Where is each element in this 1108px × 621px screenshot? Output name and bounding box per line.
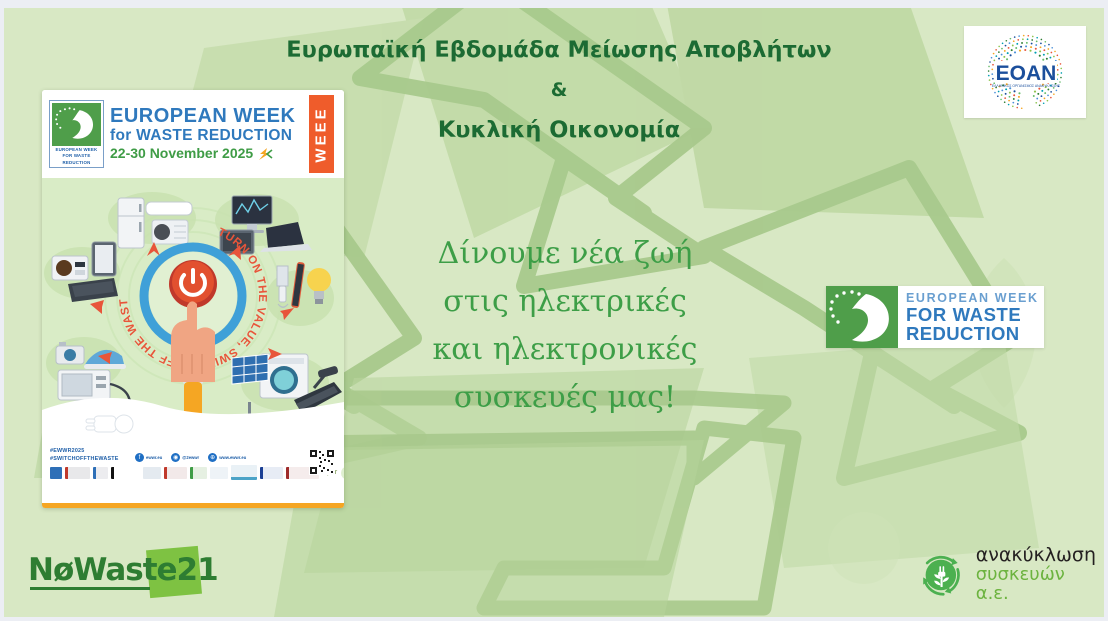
- slogan-line-3: και ηλεκτρονικές: [400, 326, 730, 374]
- ewwr-hand-stars-icon: [826, 286, 898, 348]
- social-facebook[interactable]: f ewwr.eu: [135, 453, 162, 462]
- sponsor-logo: [341, 467, 344, 479]
- slogan-block: Δίνουμε νέα ζωή στις ηλεκτρικές και ηλεκ…: [400, 230, 730, 422]
- poster-header: EUROPEAN WEEK FOR WASTE REDUCTION EUROPE…: [42, 90, 344, 178]
- poster-bottom-stripe: [42, 503, 344, 508]
- globe-icon: ⊕: [208, 453, 217, 462]
- ewwr-hand-stars-icon: EUROPEAN WEEK FOR WASTE REDUCTION: [49, 100, 104, 168]
- sponsor-logo: [93, 467, 108, 479]
- sponsor-logo: [65, 467, 90, 479]
- sponsor-logo: [50, 467, 62, 479]
- sponsor-logo: [260, 467, 283, 479]
- radio-icon: [52, 256, 88, 280]
- sponsor-logo: [231, 465, 257, 480]
- social-instagram[interactable]: ◉ @2ewwr: [171, 453, 199, 462]
- ewwr-right-line-2: FOR WASTE: [906, 305, 1044, 324]
- sponsor-logo: [190, 467, 207, 479]
- anakyklosi-wordmark: ανακύκλωση συσκευών α.ε.: [976, 546, 1096, 604]
- power-button-icon: [169, 260, 217, 308]
- social-website[interactable]: ⊕ www.ewwr.eu: [208, 453, 246, 462]
- sponsor-logo: [111, 467, 140, 479]
- instagram-icon: ◉: [171, 453, 180, 462]
- air-conditioner-icon: [146, 202, 192, 244]
- eoan-dot-ring-icon: EOAN ΕΛΛΗΝΙΚΟΣ ΟΡΓΑΝΙΣΜΟΣ ΑΝΑΚΥΚΛΩΣΗΣ: [973, 33, 1077, 111]
- slogan-line-4: συσκευές μας!: [400, 374, 730, 422]
- nowaste-underline: [30, 587, 150, 590]
- sponsor-logos: Upor: [50, 465, 336, 480]
- social-handle-facebook: ewwr.eu: [146, 455, 162, 460]
- ewwr-logo-right: EUROPEAN WEEK FOR WASTE REDUCTION: [826, 286, 1044, 348]
- poster-dates-text: 22-30 November 2025: [110, 145, 253, 162]
- title-line-1: Ευρωπαϊκή Εβδομάδα Μείωσης Αποβλήτων: [274, 28, 844, 72]
- nowaste21-logo: NøWaste21: [22, 546, 212, 598]
- ewwr-right-line-3: REDUCTION: [906, 324, 1044, 343]
- ewwr-right-words: EUROPEAN WEEK FOR WASTE REDUCTION: [898, 286, 1044, 348]
- anakyklosi-line-2: συσκευών α.ε.: [976, 566, 1096, 604]
- poster-header-words: EUROPEAN WEEK for WASTE REDUCTION 22-30 …: [104, 106, 344, 162]
- anakyklosi-line-1: ανακύκλωση: [976, 546, 1096, 566]
- eoan-subtitle: ΕΛΛΗΝΙΚΟΣ ΟΡΓΑΝΙΣΜΟΣ ΑΝΑΚΥΚΛΩΣΗΣ: [992, 84, 1060, 88]
- page-title: Ευρωπαϊκή Εβδομάδα Μείωσης Αποβλήτων & Κ…: [274, 28, 844, 152]
- social-handle-website: www.ewwr.eu: [219, 455, 246, 460]
- recycling-plug-plant-icon: [916, 544, 966, 606]
- eoan-logo: EOAN ΕΛΛΗΝΙΚΟΣ ΟΡΓΑΝΙΣΜΟΣ ΑΝΑΚΥΚΛΩΣΗΣ: [964, 26, 1086, 118]
- weee-side-tab: WEEE: [309, 95, 334, 173]
- ewwr-right-line-1: EUROPEAN WEEK: [906, 292, 1044, 305]
- weee-side-tab-text: WEEE: [313, 106, 330, 162]
- social-handle-instagram: @2ewwr: [182, 455, 199, 460]
- nowaste-wordmark: NøWaste21: [28, 552, 218, 588]
- slogan-line-1: Δίνουμε νέα ζωή: [400, 230, 730, 278]
- title-line-2: Κυκλική Οικονομία: [274, 108, 844, 152]
- ewwr-poster: EUROPEAN WEEK FOR WASTE REDUCTION EUROPE…: [42, 90, 344, 508]
- eoan-wordmark: EOAN: [996, 62, 1057, 85]
- sponsor-logo: [164, 467, 187, 479]
- qr-code-icon: [309, 449, 335, 475]
- poster-illustration: TURN ON THE VALUE, SWITCH OFF THE WASTE: [42, 178, 344, 441]
- tablet-icon-2: [92, 242, 116, 276]
- sponsor-logo: [210, 467, 228, 479]
- badge-caption-3: REDUCTION: [52, 159, 101, 165]
- anakyklosi-logo: ανακύκλωση συσκευών α.ε.: [916, 542, 1096, 608]
- refrigerator-icon: [118, 198, 144, 248]
- social-row: f ewwr.eu ◉ @2ewwr ⊕ www.ewwr.eu: [135, 453, 336, 462]
- badge-caption-1: EUROPEAN WEEK: [52, 146, 101, 152]
- slide-canvas: Ευρωπαϊκή Εβδομάδα Μείωσης Αποβλήτων & Κ…: [4, 8, 1104, 617]
- poster-footer: #EWWR2025 #SWITCHOFFTHEWASTE f ewwr.eu ◉…: [42, 441, 344, 503]
- slogan-line-2: στις ηλεκτρικές: [400, 278, 730, 326]
- title-ampersand: &: [274, 72, 844, 108]
- lightning-bolt-icon: [257, 148, 273, 160]
- facebook-icon: f: [135, 453, 144, 462]
- sponsor-logo: [143, 467, 161, 479]
